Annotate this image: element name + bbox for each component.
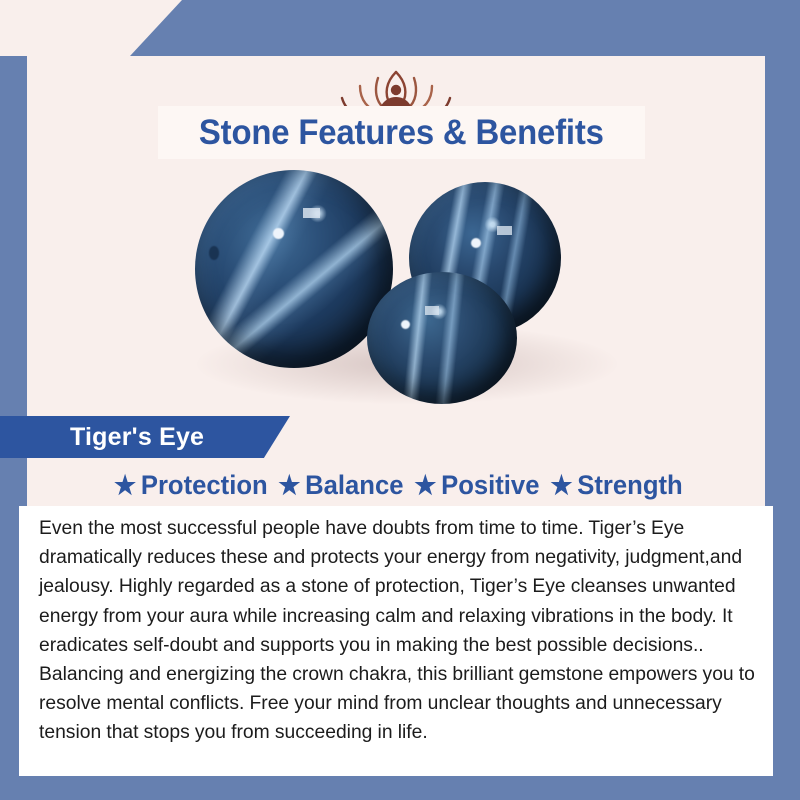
star-icon: ★ [551,472,573,498]
benefit-label: Protection [140,470,267,501]
benefit-positive: ★ Positive [411,470,540,501]
bead-bottom-right [367,272,517,404]
stone-name: Tiger's Eye [70,423,204,452]
star-icon: ★ [279,472,301,498]
description-block: Even the most successful people have dou… [19,506,773,776]
bead-large [195,170,393,368]
benefit-label: Positive [441,470,539,501]
benefit-strength: ★ Strength [547,470,683,501]
star-icon: ★ [114,472,136,498]
description-text: Even the most successful people have dou… [39,514,761,748]
benefit-balance: ★ Balance [275,470,404,501]
stone-features-infographic: BUDDHA STONES Stone Features & Benefits [0,0,800,800]
page-title: Stone Features & Benefits [199,113,604,153]
decorative-bottom-band [0,776,800,800]
benefit-label: Balance [305,470,403,501]
page-surface: BUDDHA STONES Stone Features & Benefits [27,56,765,776]
benefits-row: ★ Protection ★ Balance ★ Positive ★ Stre… [27,463,765,507]
title-banner: Stone Features & Benefits [158,106,645,159]
benefit-protection: ★ Protection [110,470,268,501]
stone-name-tag: Tiger's Eye [0,416,290,458]
star-icon: ★ [414,472,436,498]
benefit-label: Strength [577,470,682,501]
stone-photo [27,164,765,409]
decorative-top-band [130,0,800,56]
